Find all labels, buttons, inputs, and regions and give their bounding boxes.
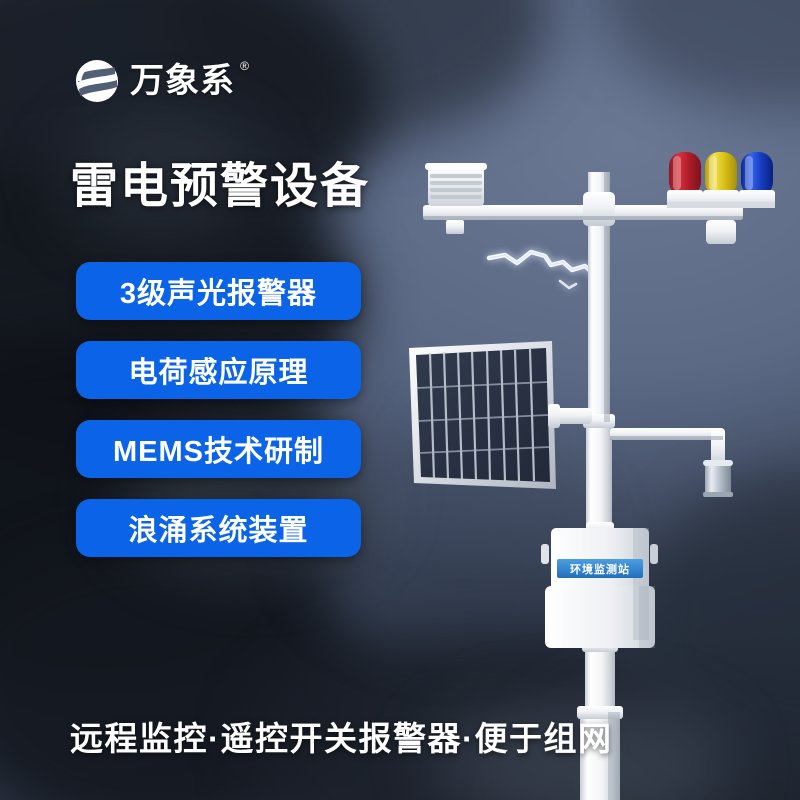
solar-panel	[409, 341, 592, 489]
feature-pill[interactable]: 3级声光报警器	[76, 262, 361, 320]
station-label: 环境监测站	[557, 559, 643, 578]
brand-name-wrapper: 万象系 ®	[130, 64, 235, 98]
feature-pill[interactable]: 浪涌系统装置	[76, 499, 361, 557]
alarm-beacon-yellow	[703, 152, 739, 208]
beacon-mount-bracket	[706, 220, 736, 244]
tagline: 远程监控·遥控开关报警器·便于组网	[70, 712, 612, 760]
feature-pill[interactable]: MEMS技术研制	[76, 420, 361, 478]
lightning-bolt-icon	[489, 252, 594, 288]
swirl-sphere-logo-icon	[74, 58, 120, 104]
brand-logo[interactable]: 万象系 ®	[74, 58, 235, 104]
feature-pill[interactable]: 电荷感应原理	[76, 341, 361, 399]
page-title: 雷电预警设备	[70, 163, 370, 211]
poster-canvas: 环境监测站 万象系 ® 雷电预警设备 3级声光报警器 电荷感应原理 MEMS技术…	[0, 0, 800, 800]
registered-trademark-mark: ®	[240, 60, 250, 72]
control-box	[541, 528, 658, 648]
electric-field-sensor	[703, 460, 733, 497]
alarm-beacon-blue	[739, 152, 775, 208]
temperature-humidity-shield-sensor	[425, 163, 487, 234]
feature-pill-list: 3级声光报警器 电荷感应原理 MEMS技术研制 浪涌系统装置	[76, 262, 361, 557]
brand-name: 万象系	[130, 62, 235, 100]
alarm-beacon-red	[667, 152, 703, 208]
